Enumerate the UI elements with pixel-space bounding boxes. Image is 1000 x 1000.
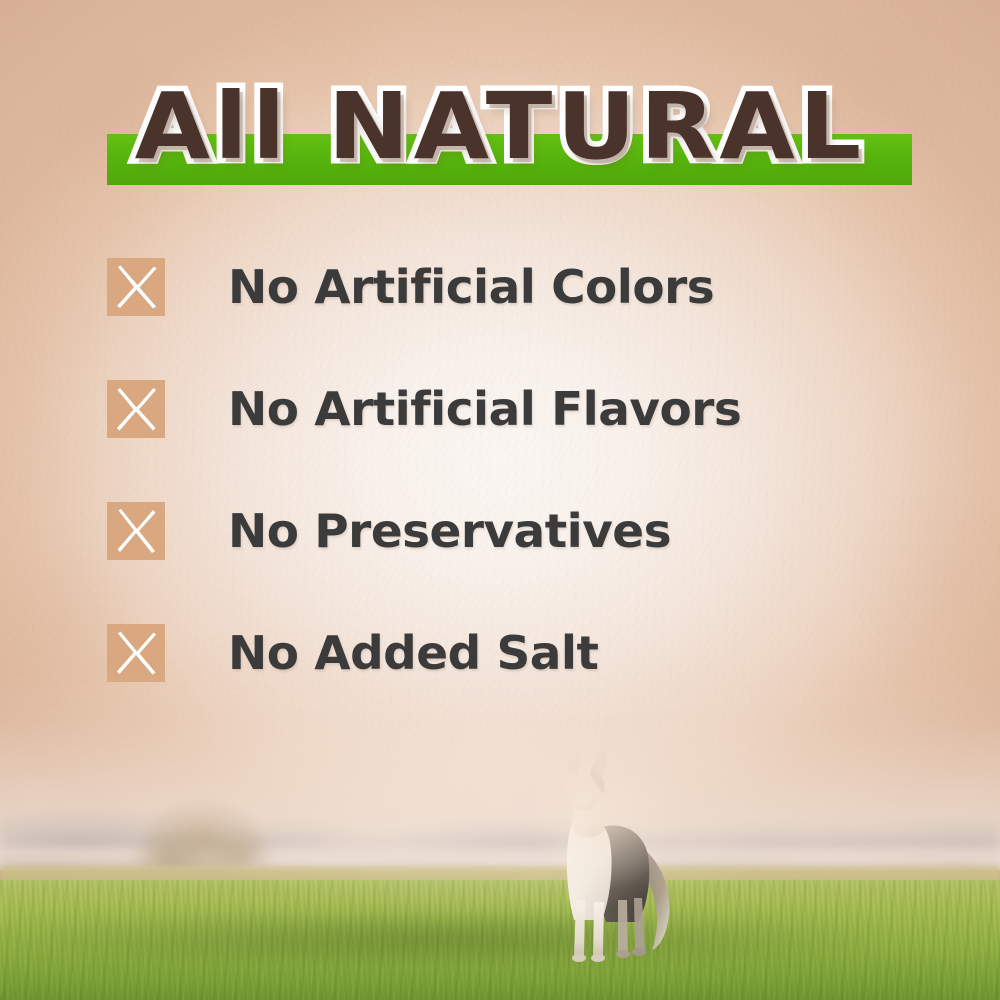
headline-banner: All NATURAL <box>0 72 1000 198</box>
claims-list: No Artificial Colors No Artificial Flavo… <box>107 258 927 682</box>
claim-item: No Artificial Colors <box>107 258 927 316</box>
claim-item: No Artificial Flavors <box>107 380 927 438</box>
claim-label: No Artificial Flavors <box>228 380 741 438</box>
headline-title: All NATURAL <box>0 72 1000 182</box>
x-mark-icon <box>107 380 165 438</box>
x-mark-icon <box>107 258 165 316</box>
landscape-photograph <box>0 670 1000 1000</box>
claim-item: No Preservatives <box>107 502 927 560</box>
claim-label: No Preservatives <box>228 502 671 560</box>
all-natural-poster: All NATURAL No Artificial Colors No Arti… <box>0 0 1000 1000</box>
x-mark-icon <box>107 502 165 560</box>
claim-label: No Artificial Colors <box>228 258 714 316</box>
warm-haze <box>0 670 1000 1000</box>
